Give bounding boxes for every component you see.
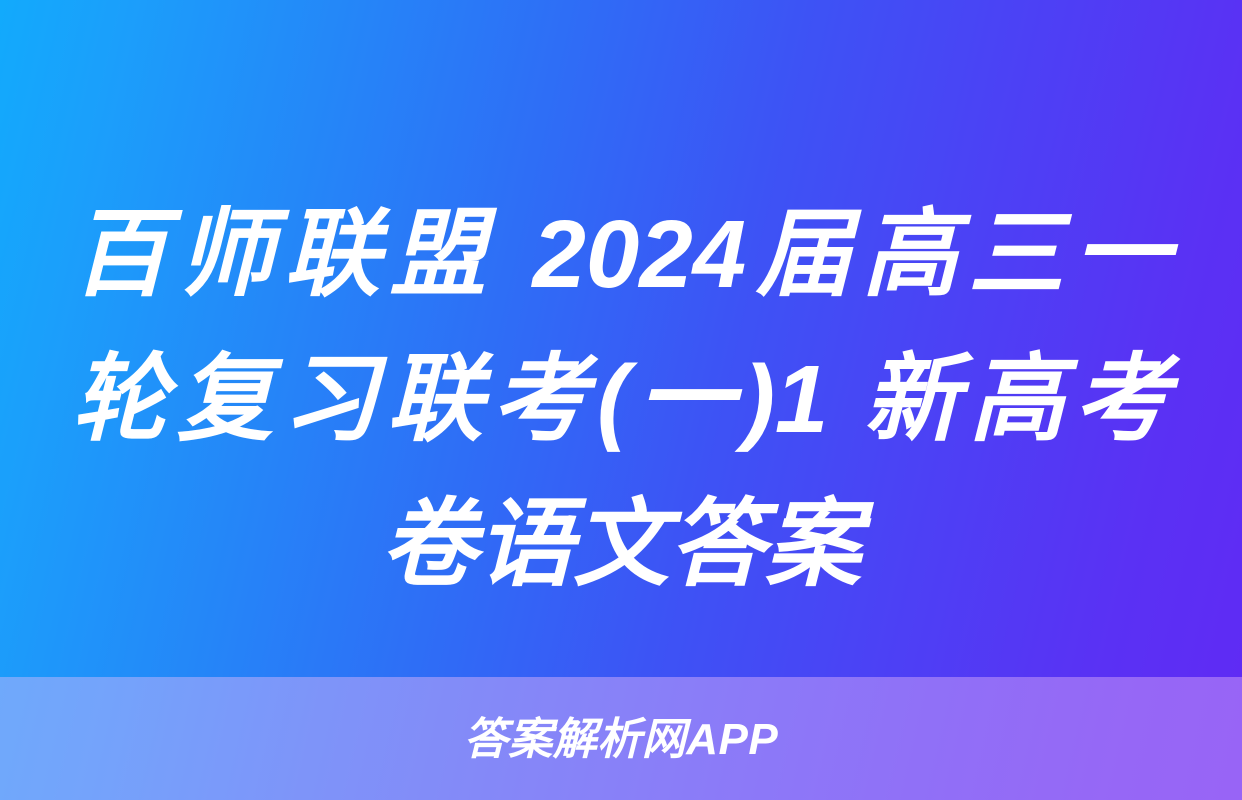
title-line-2: 轮复习联考(一)1 新高考 (72, 327, 1170, 472)
title-line-1: 百师联盟 2024届高三一 (72, 182, 1170, 327)
poster-root: 百师联盟 2024届高三一 轮复习联考(一)1 新高考 卷语文答案 答案解析网A… (0, 0, 1242, 800)
page-title: 百师联盟 2024届高三一 轮复习联考(一)1 新高考 卷语文答案 (72, 182, 1170, 617)
brand-wordmark: 答案解析网APP (464, 715, 778, 765)
footer-banner: 答案解析网APP (0, 677, 1242, 800)
title-line-3: 卷语文答案 (72, 472, 1170, 617)
hero-gradient-background: 百师联盟 2024届高三一 轮复习联考(一)1 新高考 卷语文答案 (0, 0, 1242, 677)
